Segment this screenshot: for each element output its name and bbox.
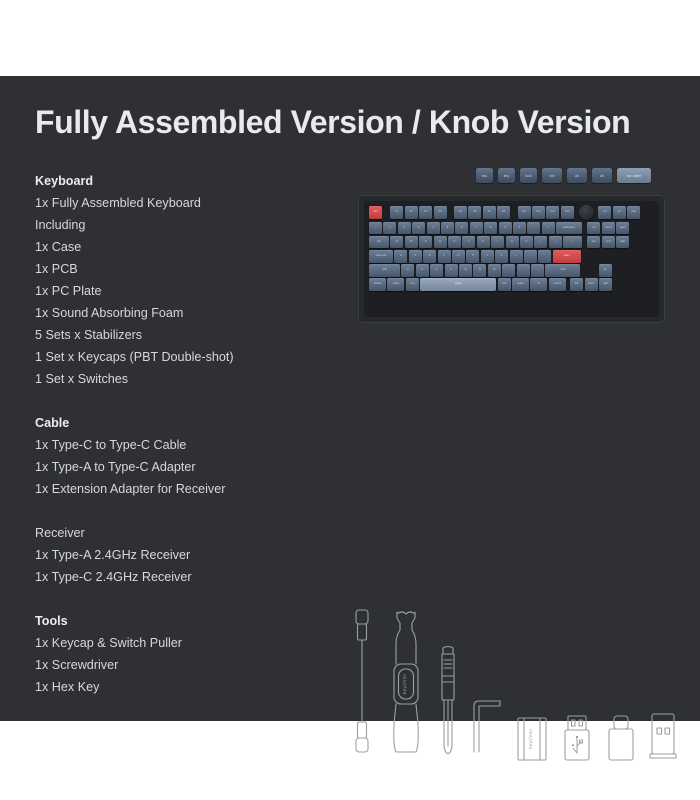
keyboard-row: controloptioncmdspacecmdoptionfncontroll… xyxy=(369,278,654,291)
keycap[interactable]: B xyxy=(459,264,472,277)
usb-receiver-dongle-icon xyxy=(650,714,676,758)
keycap[interactable]: option xyxy=(512,278,529,291)
keycap[interactable]: U xyxy=(477,236,490,249)
keycap[interactable]: J xyxy=(481,250,494,263)
spec-list: Keyboard1x Fully Assembled KeyboardInclu… xyxy=(35,170,355,698)
spec-item: 1x PCB xyxy=(35,258,355,280)
keycap[interactable]: tab xyxy=(369,236,389,249)
spec-item: 1 Set x Switches xyxy=(35,368,355,390)
keyboard-row: shiftZXCVBNM,./shiftup xyxy=(369,264,654,277)
keycap[interactable]: G xyxy=(452,250,465,263)
keycap[interactable]: \ xyxy=(563,236,582,249)
spec-item: Including xyxy=(35,214,355,236)
type-c-cable-icon xyxy=(356,610,368,752)
keycap[interactable]: C xyxy=(430,264,443,277)
keycap[interactable]: 1 xyxy=(383,222,396,235)
spec-item: 1 Set x Keycaps (PBT Double-shot) xyxy=(35,346,355,368)
extra-keycap[interactable]: key xyxy=(498,168,515,183)
screwdriver-icon xyxy=(442,647,454,755)
extra-keycap[interactable]: win xyxy=(542,168,562,183)
keycap[interactable]: 4 xyxy=(427,222,440,235)
keycap[interactable]: T xyxy=(448,236,461,249)
keycap[interactable]: F7 xyxy=(483,206,496,219)
keycap[interactable]: end xyxy=(602,236,615,249)
extension-adapter-icon: Keychron xyxy=(518,718,546,760)
keycap[interactable]: scr xyxy=(613,206,626,219)
keycap[interactable]: right xyxy=(599,278,612,291)
keycap[interactable]: pgup xyxy=(616,222,629,235)
keyboard-keys-area: escF1F2F3F4F5F6F7F8F9F10F11F12prtscrpau~… xyxy=(364,201,659,317)
keycap[interactable]: up xyxy=(599,264,612,277)
keycap[interactable]: S xyxy=(409,250,422,263)
spec-item: 1x Hex Key xyxy=(35,676,355,698)
spec-item: 5 Sets x Stabilizers xyxy=(35,324,355,346)
keyboard-row: ~1234567890-=backspaceinshomepgup xyxy=(369,222,654,235)
keycap[interactable]: ; xyxy=(524,250,537,263)
keycap[interactable]: F5 xyxy=(454,206,467,219)
receiver-group-heading: Receiver xyxy=(35,522,355,544)
keycap[interactable]: L xyxy=(510,250,523,263)
type-a-usb-adapter-icon xyxy=(565,716,589,760)
keyboard-group: Keyboard1x Fully Assembled KeyboardInclu… xyxy=(35,170,355,390)
keycap[interactable]: I xyxy=(491,236,504,249)
keycap[interactable]: ] xyxy=(549,236,562,249)
keycap[interactable]: F4 xyxy=(434,206,447,219)
spec-group-spacer xyxy=(35,500,355,522)
keycap[interactable]: down xyxy=(585,278,598,291)
keycap[interactable]: V xyxy=(445,264,458,277)
keycap[interactable]: left xyxy=(570,278,583,291)
keycap[interactable]: F1 xyxy=(390,206,403,219)
keycap[interactable]: [ xyxy=(534,236,547,249)
keycap[interactable]: esc xyxy=(369,206,382,219)
hex-key-icon xyxy=(474,701,500,752)
keycap[interactable]: F2 xyxy=(405,206,418,219)
extra-keycap[interactable]: esc xyxy=(476,168,493,183)
rotary-knob[interactable] xyxy=(579,205,594,220)
spec-group-spacer xyxy=(35,588,355,610)
extra-keycap[interactable]: alt xyxy=(567,168,587,183)
spec-item: 1x Extension Adapter for Receiver xyxy=(35,478,355,500)
keycap[interactable]: F3 xyxy=(419,206,432,219)
keycap[interactable]: . xyxy=(517,264,530,277)
keycap[interactable]: ' xyxy=(538,250,551,263)
keycap[interactable]: O xyxy=(506,236,519,249)
keycap[interactable]: option xyxy=(387,278,404,291)
keyboard-group-heading: Keyboard xyxy=(35,170,355,192)
keycap[interactable]: W xyxy=(405,236,418,249)
keycap[interactable]: / xyxy=(531,264,544,277)
spec-item: 1x Case xyxy=(35,236,355,258)
keycap[interactable]: R xyxy=(434,236,447,249)
keyboard-case: escF1F2F3F4F5F6F7F8F9F10F11F12prtscrpau~… xyxy=(358,195,665,323)
extra-keycap[interactable]: alt xyxy=(592,168,612,183)
keycap[interactable]: pau xyxy=(627,206,640,219)
keycap[interactable]: caps lock xyxy=(369,250,393,263)
type-c-adapter-icon xyxy=(609,716,633,760)
spec-item: 1x Keycap & Switch Puller xyxy=(35,632,355,654)
keycap[interactable]: ~ xyxy=(369,222,382,235)
keycap[interactable]: 9 xyxy=(499,222,512,235)
extra-keycaps-row: esckeylockwinaltaltscr order xyxy=(476,168,651,183)
spec-item: 1x Fully Assembled Keyboard xyxy=(35,192,355,214)
spec-item: 1x Type-C to Type-C Cable xyxy=(35,434,355,456)
keycap[interactable]: shift xyxy=(369,264,400,277)
keycap[interactable]: F9 xyxy=(518,206,531,219)
keycap[interactable]: Z xyxy=(401,264,414,277)
keycap-switch-puller-icon: Keychron xyxy=(394,612,419,752)
tools-group: Tools1x Keycap & Switch Puller1x Screwdr… xyxy=(35,610,355,698)
spec-item: 1x Screwdriver xyxy=(35,654,355,676)
keycap[interactable]: F6 xyxy=(468,206,481,219)
keyboard-row: caps lockASDFGHJKL;'enter xyxy=(369,250,654,263)
keycap[interactable]: 5 xyxy=(441,222,454,235)
spec-item: 1x Type-A to Type-C Adapter xyxy=(35,456,355,478)
keycap[interactable]: F8 xyxy=(497,206,510,219)
accessories-illustration: Keychron xyxy=(340,596,680,781)
keycap[interactable]: K xyxy=(495,250,508,263)
extra-keycap[interactable]: scr order xyxy=(617,168,651,183)
tools-group-heading: Tools xyxy=(35,610,355,632)
keycap[interactable]: 3 xyxy=(412,222,425,235)
keycap[interactable]: E xyxy=(419,236,432,249)
puller-brand-label: Keychron xyxy=(402,673,407,694)
keycap[interactable]: 8 xyxy=(484,222,497,235)
keycap[interactable]: N xyxy=(473,264,486,277)
keycap[interactable]: F12 xyxy=(561,206,574,219)
keyboard-row: tabQWERTYUIOP[]\delendpgdn xyxy=(369,236,654,249)
keycap[interactable]: fn xyxy=(530,278,547,291)
receiver-group: Receiver1x Type-A 2.4GHz Receiver1x Type… xyxy=(35,522,355,588)
cable-group: Cable1x Type-C to Type-C Cable1x Type-A … xyxy=(35,412,355,500)
keycap[interactable]: F11 xyxy=(546,206,559,219)
keycap[interactable]: control xyxy=(549,278,566,291)
keycap[interactable]: - xyxy=(527,222,540,235)
content-panel: Fully Assembled Version / Knob Version K… xyxy=(0,76,700,721)
keycap[interactable]: Q xyxy=(390,236,403,249)
keycap[interactable]: ins xyxy=(587,222,600,235)
keycap[interactable]: cmd xyxy=(498,278,511,291)
spec-item: 1x Type-A 2.4GHz Receiver xyxy=(35,544,355,566)
keycap[interactable]: home xyxy=(602,222,615,235)
keycap[interactable]: shift xyxy=(545,264,580,277)
keycap[interactable]: P xyxy=(520,236,533,249)
keycap[interactable]: control xyxy=(369,278,386,291)
keycap[interactable]: A xyxy=(394,250,407,263)
keycap[interactable]: 0 xyxy=(513,222,526,235)
spec-group-spacer xyxy=(35,390,355,412)
keycap[interactable]: , xyxy=(502,264,515,277)
keycap[interactable]: 7 xyxy=(470,222,483,235)
keyboard-row: escF1F2F3F4F5F6F7F8F9F10F11F12prtscrpau xyxy=(369,205,654,220)
keycap[interactable]: 2 xyxy=(398,222,411,235)
keycap[interactable]: cmd xyxy=(406,278,419,291)
keycap[interactable]: = xyxy=(542,222,555,235)
keycap[interactable]: del xyxy=(587,236,600,249)
spec-item: 1x Sound Absorbing Foam xyxy=(35,302,355,324)
keycap[interactable]: Y xyxy=(462,236,475,249)
adapter-brand-label: Keychron xyxy=(528,728,533,749)
keycap[interactable]: space xyxy=(420,278,496,291)
cable-group-heading: Cable xyxy=(35,412,355,434)
keycap[interactable]: 6 xyxy=(455,222,468,235)
keycap[interactable]: H xyxy=(466,250,479,263)
spec-item: 1x Type-C 2.4GHz Receiver xyxy=(35,566,355,588)
spec-item: 1x PC Plate xyxy=(35,280,355,302)
keycap[interactable]: X xyxy=(416,264,429,277)
keycap[interactable]: prt xyxy=(598,206,611,219)
keycap[interactable]: pgdn xyxy=(616,236,629,249)
keycap[interactable]: enter xyxy=(553,250,581,263)
keycap[interactable]: backspace xyxy=(556,222,582,235)
page-title: Fully Assembled Version / Knob Version xyxy=(35,104,630,141)
extra-keycap[interactable]: lock xyxy=(520,168,537,183)
keycap[interactable]: D xyxy=(423,250,436,263)
keycap[interactable]: F10 xyxy=(532,206,545,219)
keycap[interactable]: F xyxy=(438,250,451,263)
keycap[interactable]: M xyxy=(488,264,501,277)
